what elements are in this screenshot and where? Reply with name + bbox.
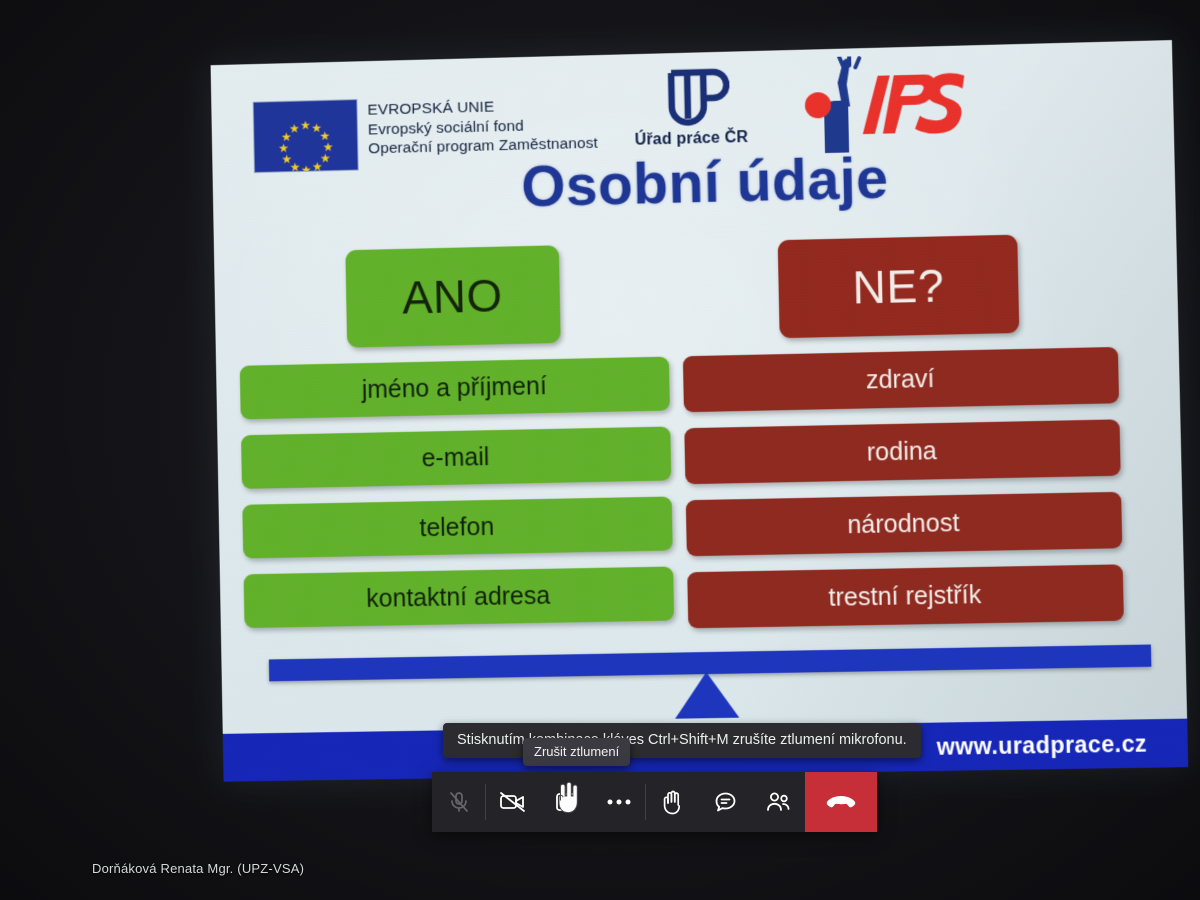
hangup-icon[interactable] — [805, 772, 877, 832]
share-screen-icon[interactable] — [539, 772, 592, 832]
column-yes: ANO jméno a příjmení e-mail telefon kont… — [238, 243, 675, 644]
microphone-muted-icon[interactable] — [432, 772, 485, 832]
comparison-columns: ANO jméno a příjmení e-mail telefon kont… — [214, 231, 1186, 680]
yes-item: jméno a příjmení — [240, 357, 670, 420]
no-item: rodina — [684, 419, 1120, 484]
presentation-slide: EVROPSKÁ UNIE Evropský sociální fond Ope… — [211, 40, 1189, 782]
urad-prace-logo: Úřad práce ČR — [615, 65, 767, 151]
more-options-icon[interactable] — [592, 772, 645, 832]
yes-item: kontaktní adresa — [244, 567, 675, 629]
camera-off-icon[interactable] — [486, 772, 539, 832]
mic-shortcut-tooltip: Stisknutím kombinace kláves Ctrl+Shift+M… — [443, 723, 921, 758]
triangle-fulcrum-icon — [674, 672, 739, 719]
unmute-tooltip: Zrušit ztlumení — [523, 738, 630, 766]
eu-logo-text: EVROPSKÁ UNIE Evropský sociální fond Ope… — [367, 95, 598, 159]
no-item: zdraví — [683, 347, 1119, 412]
yes-item: e-mail — [241, 427, 671, 489]
no-item: trestní rejstřík — [687, 564, 1124, 628]
urad-prace-label: Úřad práce ČR — [616, 129, 766, 151]
raise-hand-icon[interactable] — [646, 772, 699, 832]
participants-icon[interactable] — [752, 772, 805, 832]
projector-room-photo: EVROPSKÁ UNIE Evropský sociální fond Ope… — [0, 0, 1200, 900]
footer-url: www.uradprace.cz — [936, 729, 1187, 760]
urad-prace-monogram-icon — [651, 66, 730, 130]
column-yes-heading: ANO — [345, 245, 560, 347]
chat-icon[interactable] — [699, 772, 752, 832]
teams-meeting-controls[interactable] — [432, 772, 877, 832]
yes-item: telefon — [242, 496, 672, 558]
no-item: národnost — [686, 492, 1123, 556]
participant-name-caption: Dorňáková Renata Mgr. (UPZ-VSA) — [92, 861, 304, 876]
column-no-heading: NE? — [778, 235, 1020, 339]
ips-logo-icon — [777, 53, 970, 154]
column-no: NE? zdraví rodina národnost trestní rejs… — [681, 232, 1125, 644]
